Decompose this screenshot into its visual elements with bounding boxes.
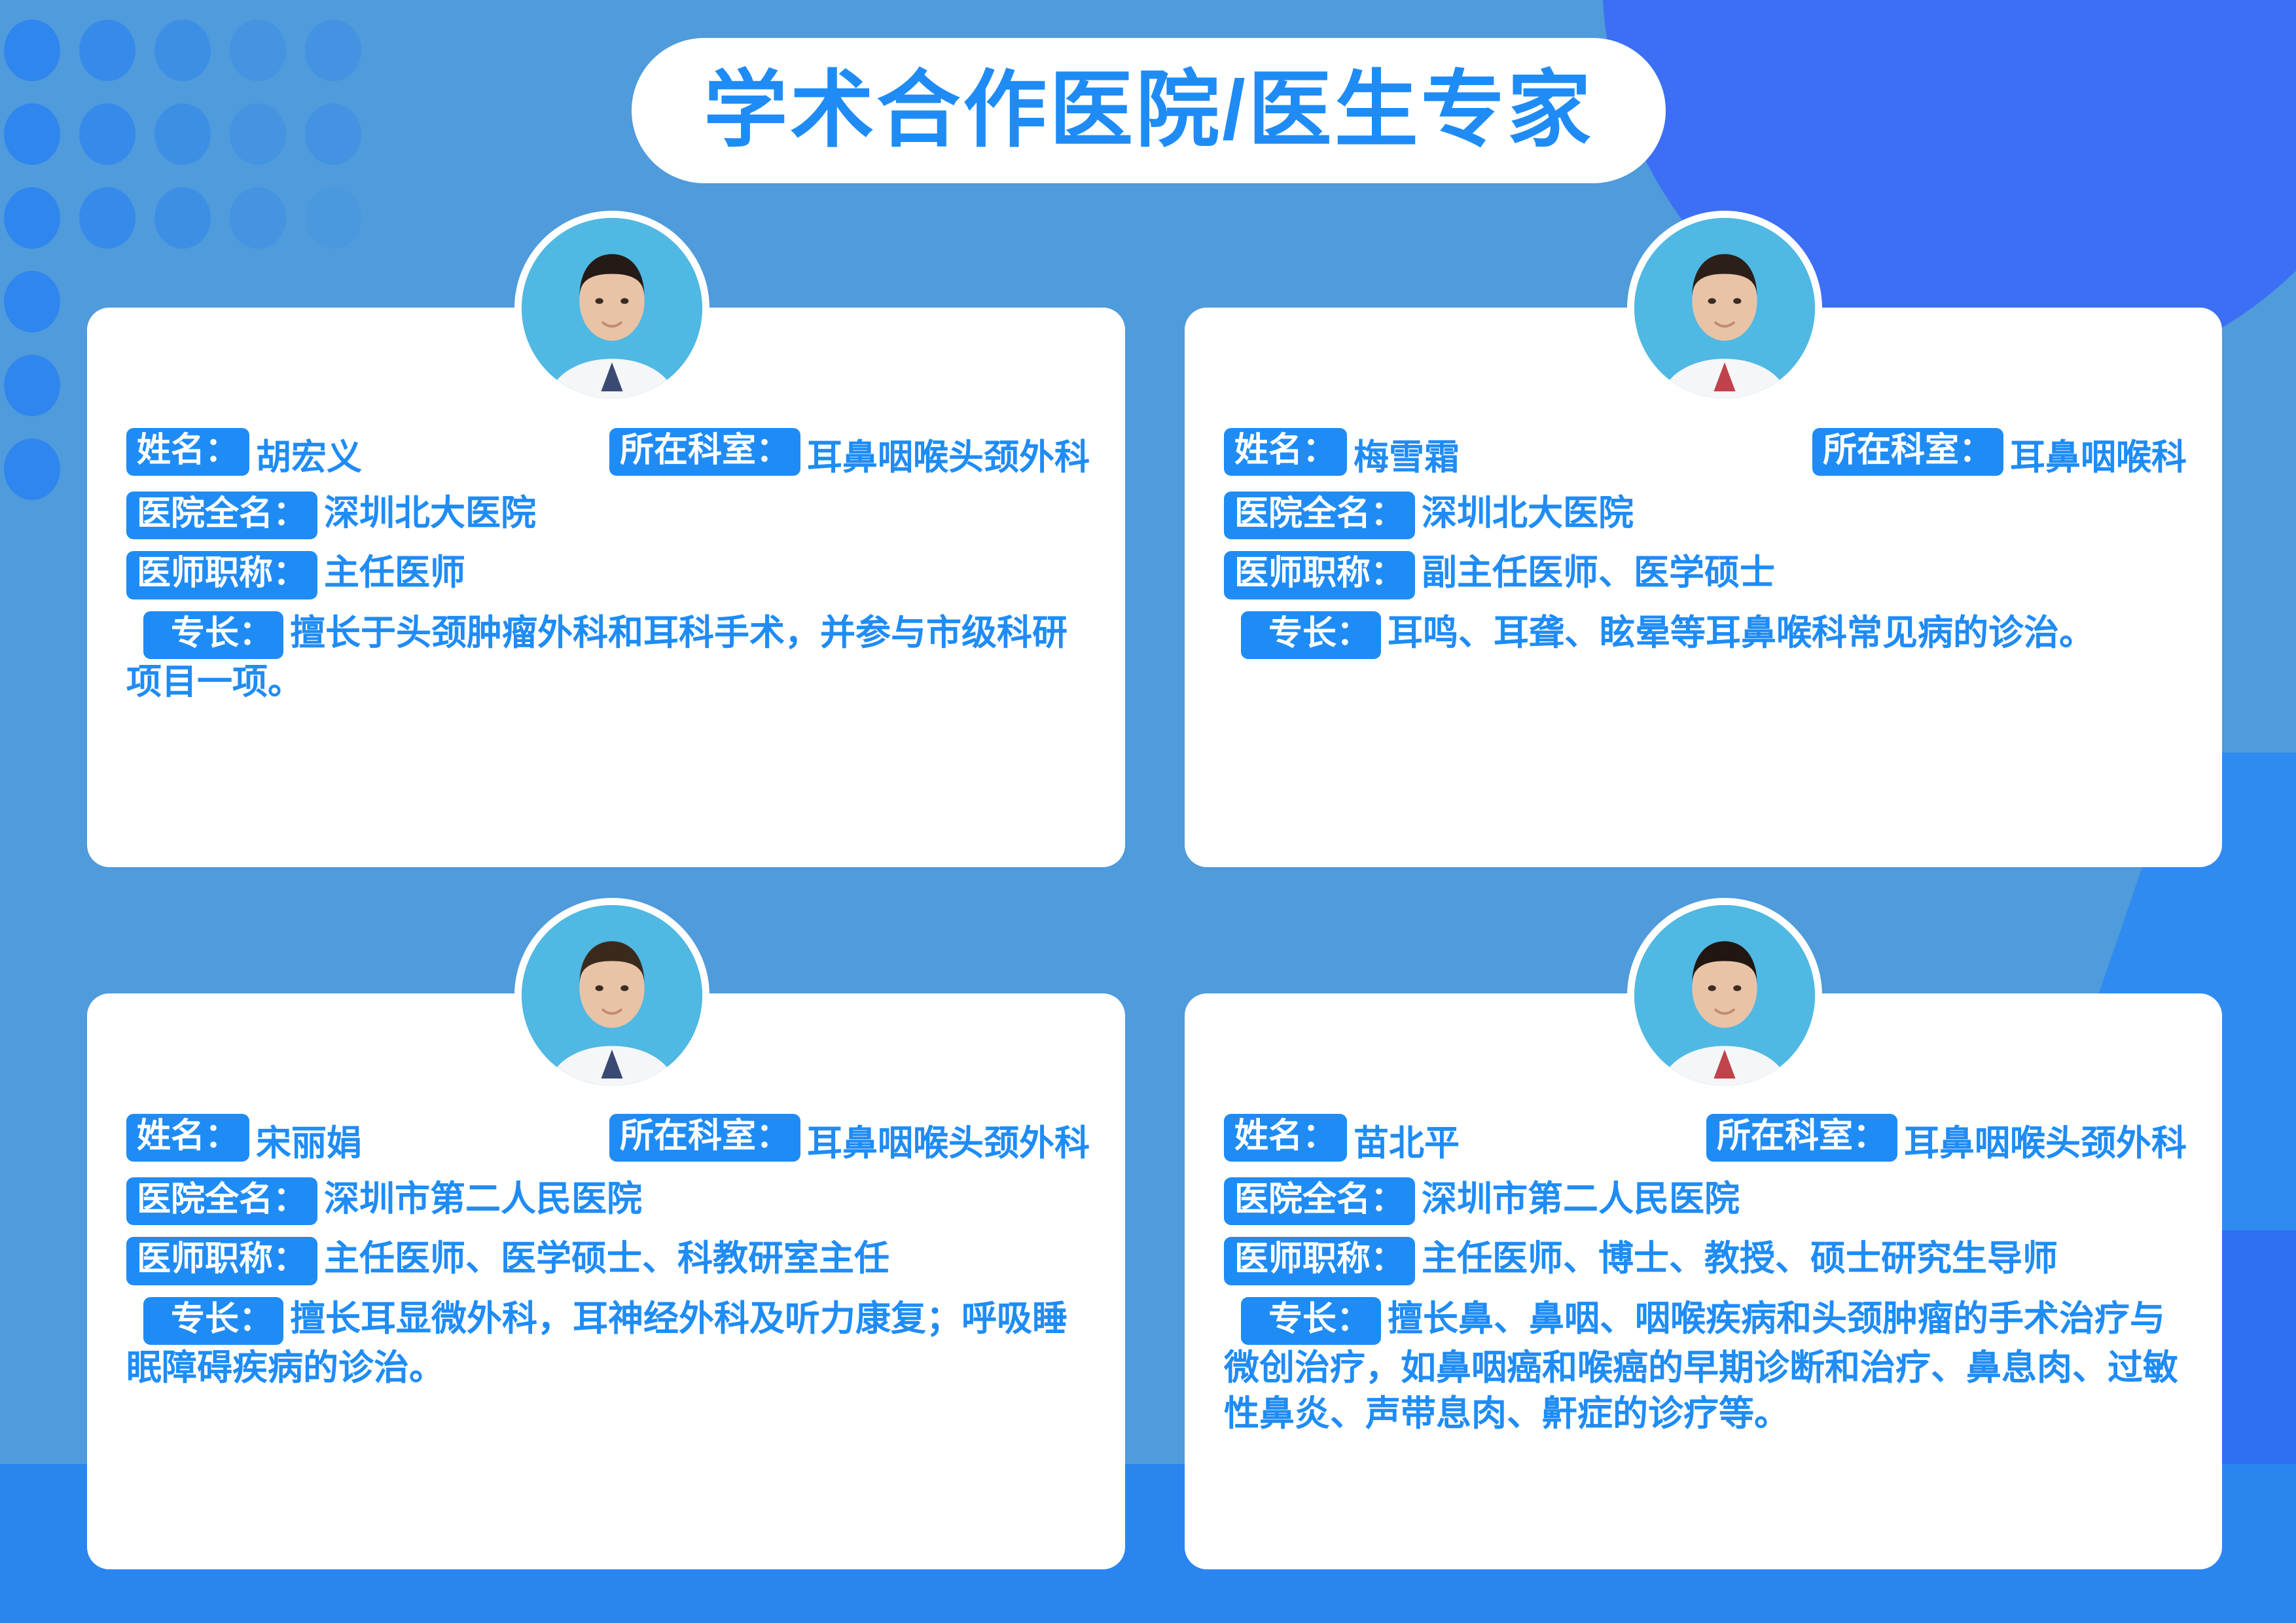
decorative-dot	[305, 187, 361, 249]
value-name: 苗北平	[1354, 1114, 1460, 1166]
value-rank: 主任医师	[324, 553, 465, 592]
label-department: 所在科室：	[1812, 428, 2003, 476]
label-specialty: 专长：	[143, 1297, 283, 1345]
decorative-dot	[4, 20, 60, 81]
page-title-pill: 学术合作医院/医生专家	[632, 38, 1666, 183]
doctor-avatar	[1627, 211, 1822, 406]
label-specialty: 专长：	[143, 611, 283, 659]
page-title: 学术合作医院/医生专家	[704, 69, 1594, 152]
doctor-rank-row: 医师职称：主任医师、博士、教授、硕士研究生导师	[1224, 1236, 2187, 1285]
value-rank: 主任医师、博士、教授、硕士研究生导师	[1422, 1239, 2058, 1278]
label-name: 姓名：	[126, 428, 249, 476]
doctor-rank-row: 医师职称：副主任医师、医学硕士	[1224, 550, 2187, 599]
value-department: 耳鼻咽喉头颈外科	[807, 428, 1090, 480]
value-hospital: 深圳北大医院	[1422, 493, 1634, 533]
value-department: 耳鼻咽喉头颈外科	[807, 1114, 1090, 1166]
value-specialty: 耳鸣、耳聋、眩晕等耳鼻喉科常见病的诊治。	[1388, 613, 2094, 652]
decorative-dot	[230, 103, 286, 165]
decorative-dot	[79, 20, 135, 81]
decorative-dot	[305, 103, 361, 165]
value-name: 梅雪霜	[1354, 428, 1460, 480]
doctor-rank-row: 医师职称：主任医师、医学硕士、科教研室主任	[126, 1236, 1090, 1285]
label-name: 姓名：	[126, 1114, 249, 1162]
doctor-avatar	[514, 898, 709, 1093]
decorative-dot	[79, 187, 135, 249]
value-hospital: 深圳市第二人民医院	[324, 1179, 642, 1219]
doctor-identity-row: 姓名： 宋丽娟 所在科室： 耳鼻咽喉头颈外科	[126, 1114, 1090, 1166]
doctor-avatar	[1627, 898, 1822, 1093]
label-rank: 医师职称：	[1224, 551, 1415, 599]
label-hospital: 医院全名：	[126, 1177, 317, 1225]
value-hospital: 深圳北大医院	[324, 493, 536, 533]
value-name: 宋丽娟	[256, 1114, 362, 1166]
decorative-dot	[154, 187, 211, 249]
doctor-card-body: 姓名： 苗北平 所在科室： 耳鼻咽喉头颈外科 医院全名：深圳市第二人民医院医师职…	[1185, 1114, 2222, 1447]
decorative-dot	[4, 355, 60, 416]
label-hospital: 医院全名：	[1224, 1177, 1415, 1225]
label-department: 所在科室：	[609, 428, 800, 476]
decorative-dot	[4, 187, 60, 249]
value-name: 胡宏义	[256, 428, 362, 480]
label-rank: 医师职称：	[126, 1237, 317, 1285]
doctor-card-body: 姓名： 胡宏义 所在科室： 耳鼻咽喉头颈外科 医院全名：深圳北大医院医师职称：主…	[87, 428, 1125, 715]
doctor-specialty-row: 专长：擅长鼻、鼻咽、咽喉疾病和头颈肿瘤的手术治疗与微创治疗，如鼻咽癌和喉癌的早期…	[1224, 1296, 2187, 1437]
label-department: 所在科室：	[609, 1114, 800, 1162]
doctor-identity-row: 姓名： 梅雪霜 所在科室： 耳鼻咽喉科	[1224, 428, 2187, 480]
value-department: 耳鼻咽喉科	[2010, 428, 2187, 480]
value-hospital: 深圳市第二人民医院	[1422, 1179, 1740, 1219]
doctor-hospital-row: 医院全名：深圳市第二人民医院	[1224, 1176, 2187, 1225]
decorative-dot	[4, 438, 60, 500]
doctor-avatar	[514, 211, 709, 406]
value-department: 耳鼻咽喉头颈外科	[1904, 1114, 2187, 1166]
label-specialty: 专长：	[1241, 611, 1381, 659]
label-rank: 医师职称：	[126, 551, 317, 599]
doctor-specialty-row: 专长：耳鸣、耳聋、眩晕等耳鼻喉科常见病的诊治。	[1224, 610, 2187, 659]
doctor-identity-row: 姓名： 胡宏义 所在科室： 耳鼻咽喉头颈外科	[126, 428, 1090, 480]
doctor-hospital-row: 医院全名：深圳北大医院	[1224, 490, 2187, 539]
doctor-specialty-row: 专长：擅长耳显微外科，耳神经外科及听力康复；呼吸睡眠障碍疾病的诊治。	[126, 1296, 1090, 1391]
label-hospital: 医院全名：	[1224, 491, 1415, 539]
doctor-rank-row: 医师职称：主任医师	[126, 550, 1090, 599]
label-rank: 医师职称：	[1224, 1237, 1415, 1285]
label-specialty: 专长：	[1241, 1297, 1381, 1345]
decorative-dot	[305, 20, 361, 81]
decorative-dot	[4, 103, 60, 165]
decorative-dot	[230, 20, 286, 81]
decorative-dot	[154, 20, 211, 81]
label-name: 姓名：	[1224, 1114, 1347, 1162]
decorative-dot	[230, 187, 286, 249]
value-rank: 主任医师、医学硕士、科教研室主任	[324, 1239, 889, 1278]
decorative-dot	[79, 103, 135, 165]
doctor-card-body: 姓名： 宋丽娟 所在科室： 耳鼻咽喉头颈外科 医院全名：深圳市第二人民医院医师职…	[87, 1114, 1125, 1401]
decorative-dot	[4, 271, 60, 332]
doctor-specialty-row: 专长：擅长于头颈肿瘤外科和耳科手术，并参与市级科研项目一项。	[126, 610, 1090, 705]
label-department: 所在科室：	[1706, 1114, 1897, 1162]
label-hospital: 医院全名：	[126, 491, 317, 539]
doctor-card-body: 姓名： 梅雪霜 所在科室： 耳鼻咽喉科 医院全名：深圳北大医院医师职称：副主任医…	[1185, 428, 2222, 669]
doctor-hospital-row: 医院全名：深圳市第二人民医院	[126, 1176, 1090, 1225]
value-rank: 副主任医师、医学硕士	[1422, 553, 1775, 592]
label-name: 姓名：	[1224, 428, 1347, 476]
doctor-hospital-row: 医院全名：深圳北大医院	[126, 490, 1090, 539]
decorative-dot	[154, 103, 211, 165]
doctor-identity-row: 姓名： 苗北平 所在科室： 耳鼻咽喉头颈外科	[1224, 1114, 2187, 1166]
